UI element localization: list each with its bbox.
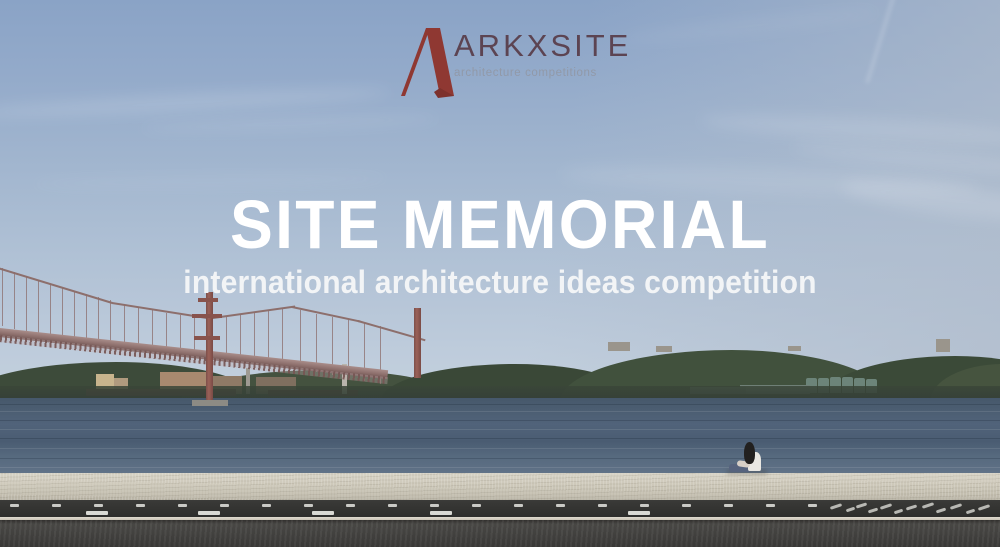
bridge-main-cable <box>292 306 361 323</box>
person-head <box>744 442 755 464</box>
lane-dash <box>262 504 271 507</box>
water-ripple <box>0 429 1000 430</box>
hilltop-building <box>656 346 672 352</box>
water-ripple <box>0 458 1000 459</box>
lane-marking <box>430 511 452 515</box>
page-subtitle: international architecture ideas competi… <box>30 264 970 300</box>
bike-pictogram-part <box>830 503 842 510</box>
lane-dash <box>682 504 691 507</box>
bike-pictogram-part <box>922 502 934 509</box>
bike-pictogram-part <box>894 509 903 515</box>
bridge-hanger <box>86 294 87 341</box>
arkxsite-tagline: architecture competitions <box>454 67 631 79</box>
lane-dash <box>220 504 229 507</box>
lane-dash <box>598 504 607 507</box>
lane-dash <box>94 504 103 507</box>
lane-marking <box>86 511 108 515</box>
asphalt-road <box>0 520 1000 547</box>
bridge-hanger <box>300 310 301 368</box>
lane-dash <box>514 504 523 507</box>
stone-promenade <box>0 473 1000 502</box>
lane-dash <box>808 504 817 507</box>
hilltop-tower <box>936 339 950 352</box>
lane-dash <box>430 504 439 507</box>
lane-dash <box>766 504 775 507</box>
bike-pictogram-part <box>966 509 975 515</box>
arkxsite-wordmark: ARKXSITE <box>454 30 631 61</box>
cloud-wisp <box>620 6 880 45</box>
bike-pictogram-part <box>950 503 962 510</box>
hilltop-building <box>608 342 630 351</box>
lane-dash <box>52 504 61 507</box>
water-ripple <box>0 420 1000 421</box>
water-ripple <box>0 467 1000 468</box>
lane-dash <box>640 504 649 507</box>
bridge-tower-crossbeam <box>194 336 220 340</box>
road-grit <box>0 520 1000 524</box>
lane-dash <box>724 504 733 507</box>
cloud-wisp <box>700 109 1000 148</box>
water-ripple <box>0 438 1000 439</box>
bridge-hanger <box>282 308 283 365</box>
arkxsite-wordmark-block: ARKXSITE architecture competitions <box>454 30 631 79</box>
lane-dash <box>304 504 313 507</box>
lane-dash <box>178 504 187 507</box>
cloud-wisp <box>140 113 440 134</box>
lane-dash <box>136 504 145 507</box>
bridge-tower <box>206 292 213 404</box>
bridge-tower-crossbeam <box>192 314 222 318</box>
hilltop-building <box>788 346 801 351</box>
lane-marking <box>312 511 334 515</box>
page-title: SITE MEMORIAL <box>35 188 965 262</box>
bridge-hanger <box>110 300 111 345</box>
lane-marking <box>628 511 650 515</box>
bike-pictogram-part <box>856 502 867 508</box>
arkxsite-logo[interactable]: ARKXSITE architecture competitions <box>392 24 632 96</box>
bike-pictogram-part <box>868 508 878 514</box>
lane-dash <box>10 504 19 507</box>
bike-pictogram-part <box>978 504 990 511</box>
water-ripple <box>0 448 1000 449</box>
water-ripple <box>0 411 1000 412</box>
bridge-tower-far <box>414 308 421 378</box>
lane-dash <box>472 504 481 507</box>
bike-pictogram-part <box>906 504 917 510</box>
bike-pictogram-part <box>846 507 855 513</box>
bike-pictogram-part <box>936 508 946 514</box>
bridge-hanger <box>268 310 269 364</box>
bike-pictogram-part <box>880 503 892 510</box>
bridge-pier <box>192 400 228 406</box>
lane-dash <box>388 504 397 507</box>
lane-marking <box>198 511 220 515</box>
lane-dash <box>346 504 355 507</box>
lane-dash <box>556 504 565 507</box>
hero-text-block: SITE MEMORIAL international architecture… <box>0 188 1000 300</box>
bridge-hanger <box>98 297 99 343</box>
river-water <box>0 398 1000 476</box>
competition-poster: ARKXSITE architecture competitions SITE … <box>0 0 1000 547</box>
